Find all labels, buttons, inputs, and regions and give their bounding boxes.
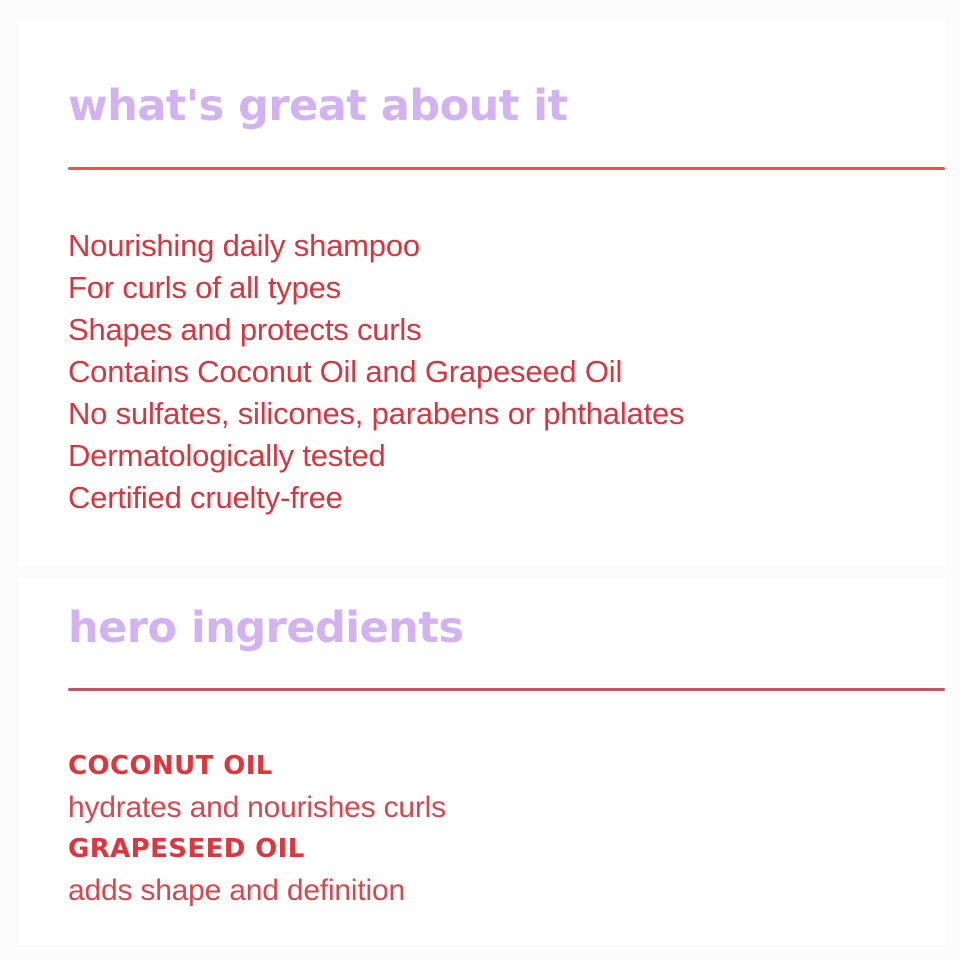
- benefits-list: Nourishing daily shampoo For curls of al…: [68, 225, 684, 519]
- list-item: No sulfates, silicones, parabens or phth…: [68, 393, 684, 435]
- ingredient-description: hydrates and nourishes curls: [68, 787, 446, 829]
- list-item: Shapes and protects curls: [68, 309, 684, 351]
- section-divider-hero-ingredients: [68, 688, 945, 691]
- hero-ingredients-section: hero ingredients COCONUT OIL hydrates an…: [18, 578, 945, 945]
- section-heading-hero-ingredients: hero ingredients: [68, 607, 463, 650]
- ingredient-name: GRAPESEED OIL: [68, 829, 446, 870]
- whats-great-panel: what's great about it Nourishing daily s…: [18, 20, 945, 566]
- product-details-page: what's great about it Nourishing daily s…: [0, 0, 960, 960]
- section-divider-whats-great: [68, 167, 945, 170]
- list-item: For curls of all types: [68, 267, 684, 309]
- ingredient-description: adds shape and definition: [68, 870, 446, 912]
- hero-ingredients-panel: hero ingredients COCONUT OIL hydrates an…: [18, 578, 945, 945]
- list-item: Contains Coconut Oil and Grapeseed Oil: [68, 351, 684, 393]
- list-item: Certified cruelty-free: [68, 477, 684, 519]
- ingredients-list: COCONUT OIL hydrates and nourishes curls…: [68, 746, 446, 912]
- whats-great-section: what's great about it Nourishing daily s…: [18, 20, 945, 566]
- list-item: Nourishing daily shampoo: [68, 225, 684, 267]
- section-heading-whats-great: what's great about it: [68, 85, 568, 128]
- list-item: Dermatologically tested: [68, 435, 684, 477]
- ingredient-name: COCONUT OIL: [68, 746, 446, 787]
